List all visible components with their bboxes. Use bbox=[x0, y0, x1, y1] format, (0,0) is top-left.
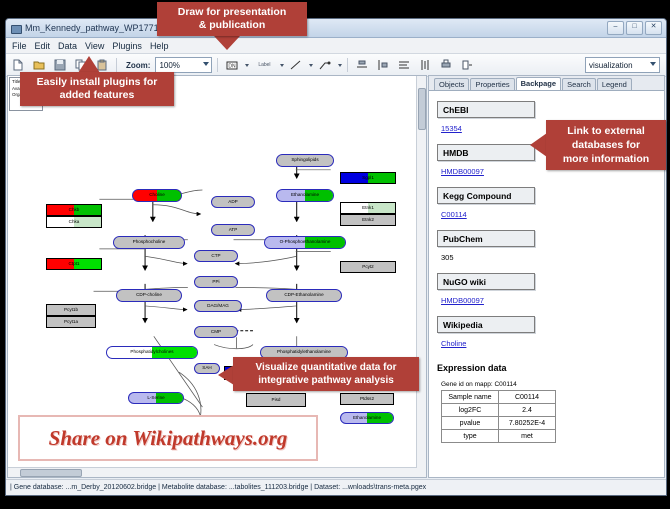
menu-item-plugins[interactable]: Plugins bbox=[112, 41, 142, 51]
metabolite-node-l-serine[interactable]: L-Serine bbox=[128, 392, 184, 404]
export-icon[interactable] bbox=[458, 56, 476, 74]
node-label: Etnk2 bbox=[362, 218, 374, 223]
node-label: DAG/MAG bbox=[207, 304, 229, 309]
metabolite-node-sah[interactable]: SAH bbox=[194, 363, 220, 374]
chevron-down-icon[interactable] bbox=[338, 64, 342, 67]
metabolite-node-phosphocholine[interactable]: Phosphocholine bbox=[113, 236, 185, 249]
gene-node-ctpt1[interactable]: Ctpt1 bbox=[46, 258, 102, 270]
line-icon[interactable] bbox=[287, 56, 305, 74]
gene-node-sgpl1[interactable]: Sgpl1 bbox=[340, 172, 396, 184]
gene-node-pisd[interactable]: Pisd bbox=[246, 393, 306, 407]
gene-id-line: Gene id on mapp: C00114 bbox=[441, 381, 656, 388]
gene-node-pcyt2[interactable]: Pcyt2 bbox=[340, 261, 396, 273]
node-label: Chkb bbox=[69, 208, 80, 213]
label-icon[interactable]: Label bbox=[252, 56, 276, 74]
database-header-nugo-wiki: NuGO wiki bbox=[437, 273, 535, 290]
zoom-value: 100% bbox=[159, 61, 179, 70]
node-label: L-Serine bbox=[147, 396, 164, 401]
callout-draw-line1: Draw for presentation bbox=[178, 6, 287, 19]
menu-item-view[interactable]: View bbox=[85, 41, 104, 51]
datanode-icon[interactable]: DN bbox=[223, 56, 241, 74]
chevron-down-icon[interactable] bbox=[309, 64, 313, 67]
node-label: ATP bbox=[229, 228, 238, 233]
order-icon[interactable] bbox=[416, 56, 434, 74]
node-label: Phosphatidylcholines bbox=[130, 350, 173, 355]
interaction-icon[interactable] bbox=[316, 56, 334, 74]
zoom-combo[interactable]: 100% bbox=[155, 57, 212, 73]
node-label: SAH bbox=[202, 366, 211, 371]
expr-row-value: 2.4 bbox=[499, 404, 556, 417]
metabolite-node-o-phosphoethanolamine[interactable]: O-Phosphoethanolamine bbox=[264, 236, 346, 249]
node-label: Phosphocholine bbox=[133, 240, 166, 245]
canvas-vertical-scrollbar[interactable] bbox=[416, 76, 426, 477]
metabolite-node-ppi[interactable]: PPi bbox=[194, 276, 238, 288]
gene-node-ptdss2[interactable]: Ptdss2 bbox=[340, 393, 394, 405]
node-label: Chka bbox=[69, 220, 80, 225]
expr-row-value: 7.80252E-4 bbox=[499, 417, 556, 430]
callout-visualize: Visualize quantitative data for integrat… bbox=[233, 357, 419, 391]
table-row: Sample nameC00114 bbox=[442, 391, 556, 404]
node-label: CDP-choline bbox=[136, 293, 162, 298]
screenshot-root: Mm_Kennedy_pathway_WP1771_45176.gpml – □… bbox=[0, 0, 670, 509]
status-bar: | Gene database: ...m_Derby_20120602.bri… bbox=[6, 479, 666, 495]
metabolite-node-ctp[interactable]: CTP bbox=[194, 250, 238, 262]
expr-row-label: pvalue bbox=[442, 417, 499, 430]
expr-row-value: C00114 bbox=[499, 391, 556, 404]
callout-link: Link to external databases for more info… bbox=[546, 120, 666, 170]
callout-visualize-pointer bbox=[218, 365, 234, 385]
node-label: CDP-Ethanolamine bbox=[284, 293, 323, 298]
metabolite-node-cmp[interactable]: CMP bbox=[194, 326, 238, 338]
expression-data-header: Expression data bbox=[437, 363, 656, 373]
callout-draw-line2: & publication bbox=[199, 19, 266, 32]
node-label: ADP bbox=[228, 200, 237, 205]
callout-plugins-line2: added features bbox=[60, 89, 135, 102]
metabolite-node-cdp-choline[interactable]: CDP-choline bbox=[116, 289, 182, 302]
gene-node-pcyt1b[interactable]: Pcyt1b bbox=[46, 304, 96, 316]
tab-backpage[interactable]: Backpage bbox=[516, 77, 561, 91]
callout-link-line2: databases for bbox=[572, 138, 640, 152]
callout-share-text: Share on Wikipathways.org bbox=[49, 426, 288, 451]
node-label: Sgpl1 bbox=[362, 176, 374, 181]
node-label: Pcyt1b bbox=[64, 308, 78, 313]
callout-plugins: Easily install plugins for added feature… bbox=[20, 72, 174, 106]
chevron-down-icon bbox=[203, 62, 209, 66]
menu-item-file[interactable]: File bbox=[12, 41, 27, 51]
minimize-button[interactable]: – bbox=[607, 21, 624, 35]
tab-legend[interactable]: Legend bbox=[597, 78, 632, 91]
label-text: Label bbox=[258, 62, 270, 68]
expression-data-table: Sample nameC00114log2FC2.4pvalue7.80252E… bbox=[441, 390, 556, 443]
node-label: O-Phosphoethanolamine bbox=[280, 240, 331, 245]
database-header-chebi: ChEBI bbox=[437, 101, 535, 118]
node-label: Etnk1 bbox=[362, 206, 374, 211]
stack-icon[interactable] bbox=[395, 56, 413, 74]
metabolite-node-ethanolamine[interactable]: Ethanolamine bbox=[340, 412, 394, 424]
database-header-hmdb: HMDB bbox=[437, 144, 535, 161]
chevron-down-icon[interactable] bbox=[245, 64, 249, 67]
node-label: Ctpt1 bbox=[69, 262, 80, 267]
title-bar: Mm_Kennedy_pathway_WP1771_45176.gpml – □… bbox=[6, 19, 666, 38]
menu-item-data[interactable]: Data bbox=[58, 41, 77, 51]
align-icon[interactable] bbox=[353, 56, 371, 74]
toolbar-separator bbox=[116, 58, 117, 72]
expr-row-label: log2FC bbox=[442, 404, 499, 417]
scrollbar-thumb[interactable] bbox=[20, 469, 82, 477]
node-label: PPi bbox=[212, 280, 219, 285]
node-label: Choline bbox=[149, 193, 165, 198]
menu-bar: File Edit Data View Plugins Help bbox=[6, 38, 666, 54]
node-label: Phosphatidylethanolamine bbox=[277, 350, 331, 355]
metabolite-node-ethanolamine[interactable]: Ethanolamine bbox=[276, 189, 334, 202]
toolbar-separator bbox=[217, 58, 218, 72]
callout-link-line1: Link to external bbox=[567, 124, 645, 138]
database-link-nugo-wiki[interactable]: HMDB00097 bbox=[441, 296, 484, 305]
callout-link-line3: more information bbox=[563, 152, 649, 166]
node-label: Pisd bbox=[272, 398, 281, 403]
table-row: typemet bbox=[442, 430, 556, 443]
gene-node-etnk2[interactable]: Etnk2 bbox=[340, 214, 396, 226]
chevron-down-icon[interactable] bbox=[280, 64, 284, 67]
close-button[interactable]: ✕ bbox=[645, 21, 662, 35]
callout-draw-pointer bbox=[214, 36, 240, 50]
distribute-icon[interactable] bbox=[374, 56, 392, 74]
callout-plugins-line1: Easily install plugins for bbox=[37, 76, 158, 89]
gene-node-chka[interactable]: Chka bbox=[46, 216, 102, 228]
node-label: Sphingolipids bbox=[291, 158, 318, 163]
chevron-down-icon bbox=[650, 62, 656, 66]
gene-node-etnk1[interactable]: Etnk1 bbox=[340, 202, 396, 214]
node-label: Ptdss2 bbox=[360, 397, 374, 402]
tab-properties[interactable]: Properties bbox=[470, 78, 514, 91]
expr-row-label: Sample name bbox=[442, 391, 499, 404]
visualization-value: visualization bbox=[589, 61, 633, 70]
app-icon bbox=[10, 23, 21, 34]
print-icon[interactable] bbox=[437, 56, 455, 74]
table-row: pvalue7.80252E-4 bbox=[442, 417, 556, 430]
zoom-label: Zoom: bbox=[126, 61, 150, 70]
metabolite-node-dag-mag[interactable]: DAG/MAG bbox=[194, 300, 242, 312]
gene-node-pcyt1a[interactable]: Pcyt1a bbox=[46, 316, 96, 328]
menu-item-edit[interactable]: Edit bbox=[35, 41, 51, 51]
canvas-horizontal-scrollbar[interactable] bbox=[8, 467, 417, 477]
expr-row-value: met bbox=[499, 430, 556, 443]
status-bar-text: | Gene database: ...m_Derby_20120602.bri… bbox=[10, 484, 426, 491]
svg-text:DN: DN bbox=[229, 63, 237, 69]
metabolite-node-sphingolipids[interactable]: Sphingolipids bbox=[276, 154, 334, 167]
metabolite-node-adp[interactable]: ADP bbox=[211, 196, 255, 208]
maximize-button[interactable]: □ bbox=[626, 21, 643, 35]
database-header-pubchem: PubChem bbox=[437, 230, 535, 247]
metabolite-node-cdp-ethanolamine[interactable]: CDP-Ethanolamine bbox=[266, 289, 342, 302]
database-link-hmdb[interactable]: HMDB00097 bbox=[441, 167, 484, 176]
menu-item-help[interactable]: Help bbox=[150, 41, 169, 51]
callout-link-pointer bbox=[530, 133, 547, 157]
metabolite-node-phosphatidylcholines[interactable]: Phosphatidylcholines bbox=[106, 346, 198, 359]
scrollbar-thumb[interactable] bbox=[418, 88, 426, 130]
database-value-pubchem: 305 bbox=[441, 253, 454, 262]
expr-row-label: type bbox=[442, 430, 499, 443]
side-panel-tabs[interactable]: ObjectsPropertiesBackpageSearchLegend bbox=[429, 76, 664, 91]
window-controls[interactable]: – □ ✕ bbox=[607, 21, 662, 35]
callout-plugins-pointer bbox=[78, 56, 100, 73]
tab-objects[interactable]: Objects bbox=[434, 78, 469, 91]
database-header-kegg-compound: Kegg Compound bbox=[437, 187, 535, 204]
callout-visualize-line1: Visualize quantitative data for bbox=[256, 361, 397, 374]
gene-node-chkb[interactable]: Chkb bbox=[46, 204, 102, 216]
node-label: Ethanolamine bbox=[353, 416, 381, 421]
node-label: CMP bbox=[211, 330, 221, 335]
callout-draw: Draw for presentation & publication bbox=[157, 2, 307, 36]
node-label: Pcyt2 bbox=[362, 265, 374, 270]
node-label: Ethanolamine bbox=[291, 193, 319, 198]
database-link-wikipedia[interactable]: Choline bbox=[441, 339, 466, 348]
metabolite-node-choline[interactable]: Choline bbox=[132, 189, 182, 202]
database-header-wikipedia: Wikipedia bbox=[437, 316, 535, 333]
database-link-kegg-compound[interactable]: C00114 bbox=[441, 210, 467, 219]
metabolite-node-atp[interactable]: ATP bbox=[211, 224, 255, 236]
visualization-combo[interactable]: visualization bbox=[585, 57, 660, 73]
callout-visualize-line2: integrative pathway analysis bbox=[258, 374, 394, 387]
toolbar-separator bbox=[347, 58, 348, 72]
node-label: CTP bbox=[211, 254, 220, 259]
database-link-chebi[interactable]: 15354 bbox=[441, 124, 462, 133]
table-row: log2FC2.4 bbox=[442, 404, 556, 417]
callout-share: Share on Wikipathways.org bbox=[18, 415, 318, 461]
node-label: Pcyt1a bbox=[64, 320, 78, 325]
tab-search[interactable]: Search bbox=[562, 78, 596, 91]
